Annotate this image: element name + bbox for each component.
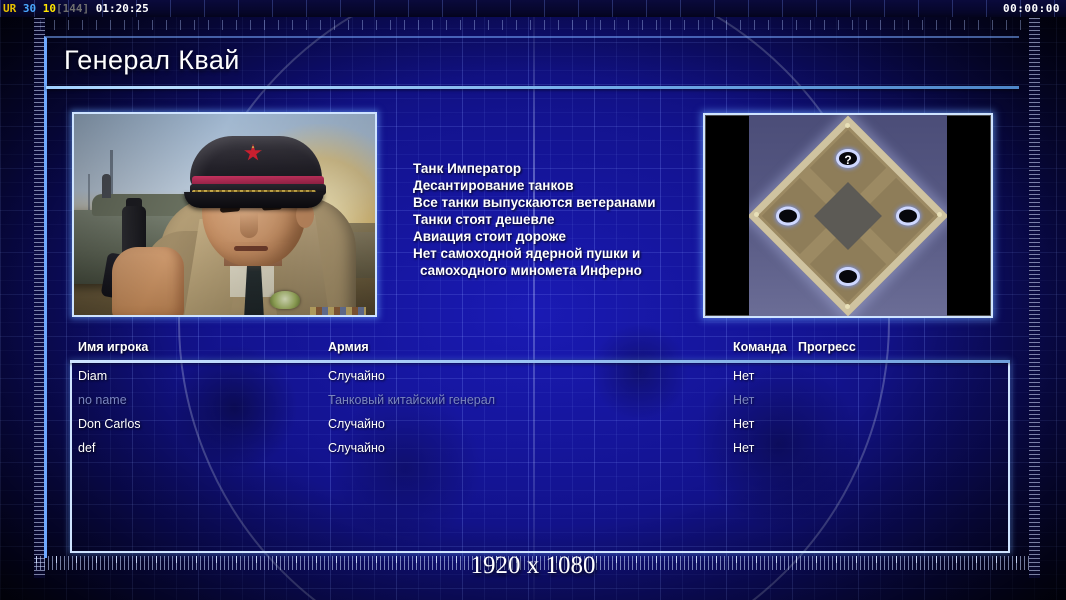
- title-divider: [46, 86, 1019, 89]
- player-list-rows: Diam Случайно Нет no name Танковый китай…: [78, 364, 1008, 460]
- bonus-line: Десантирование танков: [413, 177, 703, 194]
- player-team: Нет: [733, 388, 813, 412]
- player-list-header: Имя игрока Армия Команда Прогресс: [78, 340, 1008, 360]
- status-prefix: UR: [3, 2, 16, 15]
- table-row[interactable]: Diam Случайно Нет: [78, 364, 1008, 388]
- general-bonus-list: Танк Император Десантирование танков Все…: [413, 160, 703, 279]
- bonus-line: Авиация стоит дороже: [413, 228, 703, 245]
- map-corner-marker: [754, 212, 759, 217]
- column-header-army: Армия: [328, 340, 708, 354]
- player-name: no name: [78, 388, 318, 412]
- column-header-name: Имя игрока: [78, 340, 318, 354]
- map-start-position-2[interactable]: [776, 206, 800, 225]
- portrait-shading: [74, 114, 375, 315]
- page-title: Генерал Квай: [64, 45, 1014, 87]
- status-bar-ticks: [0, 0, 1066, 17]
- map-corner-marker: [845, 123, 850, 128]
- table-row[interactable]: def Случайно Нет: [78, 436, 1008, 460]
- player-list-divider: [70, 360, 1010, 363]
- map-start-position-4[interactable]: [836, 267, 860, 286]
- player-name: Diam: [78, 364, 318, 388]
- loading-screen: UR 30 10[144] 01:20:25 00:00:00 Генерал …: [0, 0, 1066, 600]
- resolution-label: 1920 x 1080: [0, 552, 1066, 580]
- status-value-2: 10: [43, 2, 56, 15]
- general-portrait-frame: [72, 112, 377, 317]
- map-preview-image: ?: [749, 115, 947, 316]
- ruler-top: [40, 20, 1030, 30]
- status-bracket: [144]: [56, 2, 89, 15]
- player-army: Случайно: [328, 412, 708, 436]
- player-name: Don Carlos: [78, 412, 318, 436]
- bonus-line: самоходного миномета Инферно: [413, 262, 703, 279]
- player-army: Случайно: [328, 364, 708, 388]
- bonus-line: Нет самоходной ядерной пушки и: [413, 245, 703, 262]
- map-preview-frame: ?: [703, 113, 993, 318]
- table-row[interactable]: no name Танковый китайский генерал Нет: [78, 388, 1008, 412]
- player-team: Нет: [733, 364, 813, 388]
- column-header-progress: Прогресс: [798, 340, 993, 354]
- player-army: Случайно: [328, 436, 708, 460]
- table-row[interactable]: Don Carlos Случайно Нет: [78, 412, 1008, 436]
- status-clock: 00:00:00: [1003, 0, 1060, 17]
- player-team: Нет: [733, 436, 813, 460]
- status-bar: UR 30 10[144] 01:20:25 00:00:00: [0, 0, 1066, 17]
- status-value-1: 30: [23, 2, 36, 15]
- general-portrait-image: [74, 114, 375, 315]
- map-corner-marker: [937, 212, 942, 217]
- player-name: def: [78, 436, 318, 460]
- ruler-right: [1029, 18, 1040, 578]
- map-start-position-1[interactable]: ?: [836, 149, 860, 168]
- bonus-line: Танки стоят дешевле: [413, 211, 703, 228]
- bonus-line: Все танки выпускаются ветеранами: [413, 194, 703, 211]
- player-team: Нет: [733, 412, 813, 436]
- player-army: Танковый китайский генерал: [328, 388, 708, 412]
- map-start-position-3[interactable]: [896, 206, 920, 225]
- status-bar-left: UR 30 10[144] 01:20:25: [3, 0, 149, 17]
- bonus-line: Танк Император: [413, 160, 703, 177]
- map-corner-marker: [845, 304, 850, 309]
- status-elapsed: 01:20:25: [96, 2, 149, 15]
